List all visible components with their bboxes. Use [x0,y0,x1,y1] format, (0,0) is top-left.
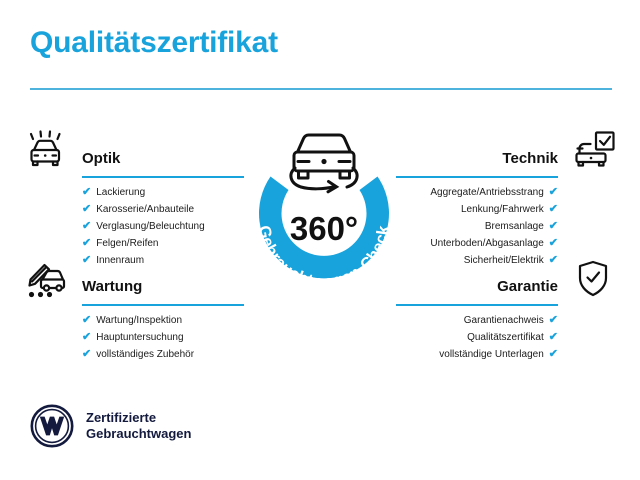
list-item-label: vollständige Unterlagen [439,347,544,363]
list-item-label: Aggregate/Antriebsstrang [430,185,543,201]
list-item: ✔ vollständige Unterlagen [388,346,558,363]
check-icon: ✔ [549,218,558,234]
section-wartung-heading: Wartung [82,279,142,294]
check-icon: ✔ [82,329,91,345]
section-technik-heading: Technik [502,151,558,166]
list-item: ✔ Lenkung/Fahrwerk [388,201,558,218]
section-wartung-header: Wartung [20,258,252,306]
list-item-label: Karosserie/Anbauteile [96,202,194,218]
list-item: ✔ Qualitätszertifikat [388,329,558,346]
list-item: ✔ Unterboden/Abgasanlage [388,235,558,252]
check-icon: ✔ [549,201,558,217]
section-optik-heading: Optik [82,151,120,166]
check-icon: ✔ [82,312,91,328]
badge-360-gebrauchtwagen-check: 360° Gebrauchtwagen-Check [240,118,408,303]
section-garantie-heading: Garantie [497,279,558,294]
list-item: ✔ Hauptuntersuchung [82,329,252,346]
list-item-label: Wartung/Inspektion [96,313,182,329]
list-item-label: Hauptuntersuchung [96,330,183,346]
header-divider [30,88,612,90]
car-rotate-icon [291,135,357,192]
car-service-pen-icon [24,258,70,300]
list-item: ✔ Wartung/Inspektion [82,312,252,329]
section-technik-list: ✔ Aggregate/Antriebsstrang ✔ Lenkung/Fah… [388,178,620,269]
section-technik: Technik ✔ Aggregate/Antriebsstrang ✔ Len… [388,130,620,269]
list-item-label: Unterboden/Abgasanlage [430,236,543,252]
section-optik-header: Optik [20,130,252,178]
vw-logo-icon [30,404,74,448]
check-icon: ✔ [82,184,91,200]
car-checkbox-icon [570,130,616,172]
list-item-label: Lenkung/Fahrwerk [461,202,544,218]
section-wartung: Wartung ✔ Wartung/Inspektion ✔ Hauptunte… [20,258,252,363]
list-item: ✔ Aggregate/Antriebsstrang [388,184,558,201]
list-item-label: Felgen/Reifen [96,236,158,252]
page-title: Qualitätszertifikat [30,28,278,58]
car-shine-icon [24,130,70,172]
list-item-label: vollständiges Zubehör [96,347,194,363]
check-icon: ✔ [82,201,91,217]
section-optik-list: ✔ Lackierung ✔ Karosserie/Anbauteile ✔ V… [20,178,252,269]
badge-center-label: 360° [290,210,358,247]
section-garantie-divider [396,304,558,306]
list-item: ✔ Garantienachweis [388,312,558,329]
section-wartung-divider [82,304,244,306]
section-optik-divider [82,176,244,178]
list-item-label: Bremsanlage [485,219,544,235]
check-icon: ✔ [549,329,558,345]
section-garantie: Garantie ✔ Garantienachweis ✔ Qualitätsz… [388,258,620,363]
brand-text-line1: Zertifizierte [86,410,191,426]
check-icon: ✔ [82,235,91,251]
section-optik: Optik ✔ Lackierung ✔ Karosserie/Anbautei… [20,130,252,269]
brand-text-line2: Gebrauchtwagen [86,426,191,442]
certificate-page: Qualitätszertifikat Optik [0,0,640,480]
check-icon: ✔ [549,346,558,362]
section-garantie-list: ✔ Garantienachweis ✔ Qualitätszertifikat… [388,306,620,363]
list-item: ✔ Felgen/Reifen [82,235,252,252]
check-icon: ✔ [549,184,558,200]
list-item: ✔ vollständiges Zubehör [82,346,252,363]
list-item: ✔ Lackierung [82,184,252,201]
list-item-label: Qualitätszertifikat [467,330,544,346]
check-icon: ✔ [549,312,558,328]
list-item: ✔ Verglasung/Beleuchtung [82,218,252,235]
check-icon: ✔ [82,218,91,234]
brand-text: Zertifizierte Gebrauchtwagen [86,410,191,442]
list-item: ✔ Karosserie/Anbauteile [82,201,252,218]
list-item-label: Lackierung [96,185,145,201]
check-icon: ✔ [82,346,91,362]
section-garantie-header: Garantie [388,258,620,306]
check-icon: ✔ [549,235,558,251]
section-technik-header: Technik [388,130,620,178]
shield-check-icon [570,258,616,300]
section-technik-divider [396,176,558,178]
list-item: ✔ Bremsanlage [388,218,558,235]
section-wartung-list: ✔ Wartung/Inspektion ✔ Hauptuntersuchung… [20,306,252,363]
brand-footer: Zertifizierte Gebrauchtwagen [30,404,191,448]
list-item-label: Verglasung/Beleuchtung [96,219,204,235]
list-item-label: Garantienachweis [464,313,544,329]
